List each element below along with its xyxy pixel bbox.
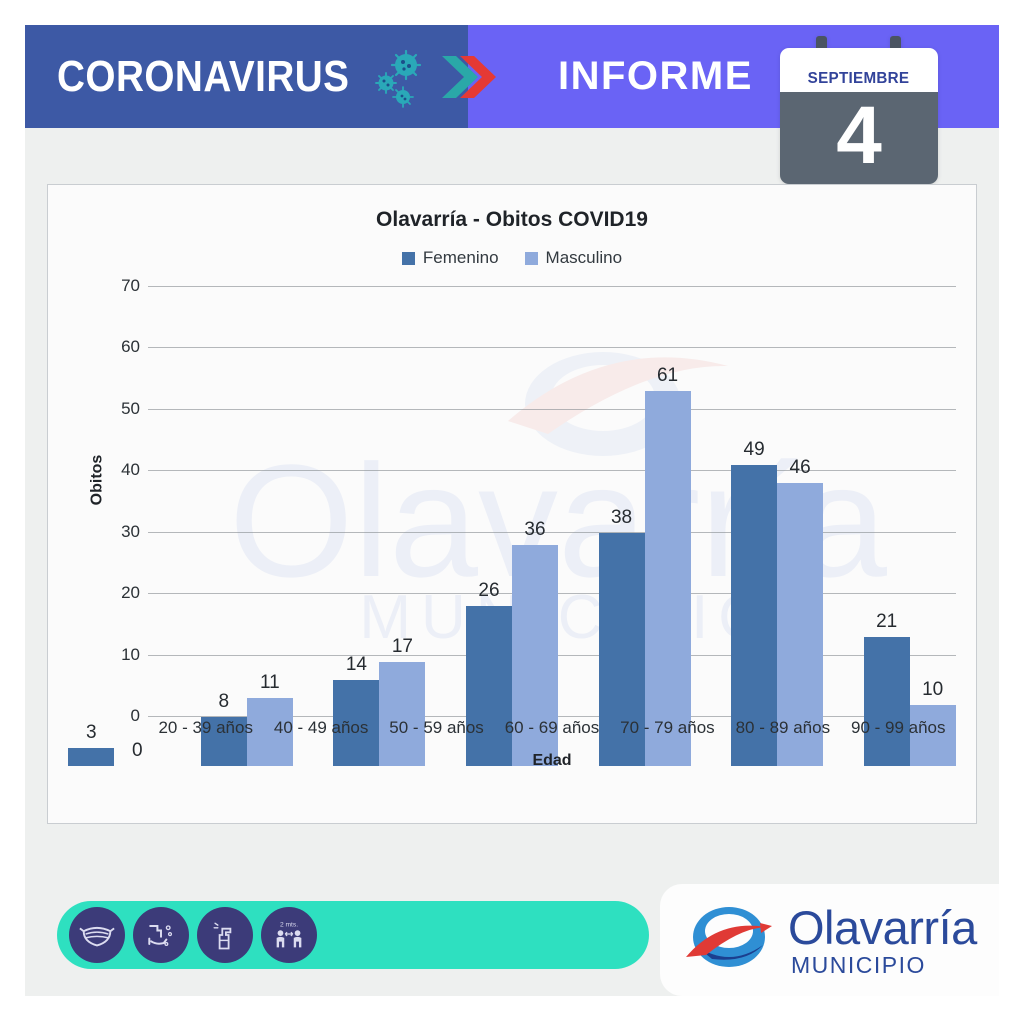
bar-femenino[interactable]: 38 [599, 336, 645, 766]
bar-group: 4946 [731, 336, 823, 766]
bar-value-label: 8 [219, 691, 230, 713]
legend-label-femenino: Femenino [423, 248, 499, 268]
bar-group: 30 [68, 336, 160, 766]
bar-value-label: 17 [392, 636, 413, 658]
bar-rect [864, 637, 910, 766]
gridline-70 [148, 286, 956, 287]
bar-rect [379, 662, 425, 766]
calendar-body: 4 [780, 92, 938, 184]
legend-label-masculino: Masculino [546, 248, 623, 268]
bar-value-label: 21 [876, 611, 897, 633]
chart-panel: Olavarría - Obitos COVID19 Femenino Masc… [47, 184, 977, 824]
bar-rect [466, 606, 512, 766]
report-label: INFORME [558, 54, 753, 99]
bar-group: 3861 [599, 336, 691, 766]
bar-masculino[interactable]: 17 [379, 336, 425, 766]
distance-label: 2 mts. [280, 921, 298, 928]
legend-swatch-femenino [402, 252, 415, 265]
bar-femenino[interactable]: 8 [201, 336, 247, 766]
date-calendar: SEPTIEMBRE 4 [780, 36, 938, 184]
x-tick-label: 40 - 49 años [263, 718, 378, 738]
x-tick-label: 80 - 89 años [725, 718, 840, 738]
bar-femenino[interactable]: 26 [466, 336, 512, 766]
x-axis-title: Edad [148, 752, 956, 770]
bar-masculino[interactable]: 0 [114, 336, 160, 766]
bar-value-label: 46 [790, 457, 811, 479]
social-distance-icon: 2 mts. [261, 907, 317, 963]
bar-femenino[interactable]: 3 [68, 336, 114, 766]
bar-value-label: 3 [86, 722, 97, 744]
bar-value-label: 36 [524, 519, 545, 541]
bar-group: 2110 [864, 336, 956, 766]
plot-area: Obitos 010203040506070 Olavarría MUNICIP… [48, 286, 976, 766]
bar-group: 811 [201, 336, 293, 766]
legend-item-masculino: Masculino [525, 248, 623, 268]
bar-group: 2636 [466, 336, 558, 766]
calendar-header: SEPTIEMBRE [780, 48, 938, 92]
x-tick-label: 50 - 59 años [379, 718, 494, 738]
y-tick-70: 70 [121, 276, 140, 296]
chart-title: Olavarría - Obitos COVID19 [48, 208, 976, 232]
x-tick-label: 70 - 79 años [610, 718, 725, 738]
bar-rect [68, 748, 114, 766]
legend-swatch-masculino [525, 252, 538, 265]
bar-masculino[interactable]: 61 [645, 336, 691, 766]
x-tick-label: 20 - 39 años [148, 718, 263, 738]
page-title: CORONAVIRUS [57, 52, 349, 102]
legend-item-femenino: Femenino [402, 248, 499, 268]
bar-masculino[interactable]: 11 [247, 336, 293, 766]
bar-femenino[interactable]: 49 [731, 336, 777, 766]
handwashing-icon [133, 907, 189, 963]
chevron-right-icon [440, 53, 500, 101]
chart-bars: 3081114172636386149462110 [48, 336, 976, 766]
bar-rect [645, 391, 691, 766]
header-left-panel: CORONAVIRUS [25, 25, 468, 128]
x-tick-label: 60 - 69 años [494, 718, 609, 738]
sanitizer-spray-icon [197, 907, 253, 963]
logo-name: Olavarría [788, 904, 977, 951]
bar-value-label: 0 [132, 740, 143, 762]
olavarria-swoosh-logo [682, 901, 776, 979]
bar-value-label: 10 [922, 679, 943, 701]
logo-subtitle: MUNICIPIO [791, 954, 977, 977]
virus-icon [370, 49, 440, 111]
poster-root: CORONAVIRUS [0, 0, 1024, 1024]
bar-value-label: 11 [260, 672, 280, 694]
bar-masculino[interactable]: 36 [512, 336, 558, 766]
bar-value-label: 14 [346, 654, 367, 676]
prevention-banner: 2 mts. [57, 901, 649, 969]
municipality-logo: Olavarría MUNICIPIO [660, 884, 999, 996]
x-axis-tick-labels: 20 - 39 años40 - 49 años50 - 59 años60 -… [148, 718, 956, 738]
calendar-day: 4 [836, 101, 882, 171]
face-mask-icon [69, 907, 125, 963]
bar-value-label: 61 [657, 365, 678, 387]
bar-femenino[interactable]: 21 [864, 336, 910, 766]
bar-femenino[interactable]: 14 [333, 336, 379, 766]
chart-legend: Femenino Masculino [48, 248, 976, 268]
bar-masculino[interactable]: 10 [910, 336, 956, 766]
bar-value-label: 49 [744, 439, 765, 461]
bar-masculino[interactable]: 46 [777, 336, 823, 766]
bar-group: 1417 [333, 336, 425, 766]
x-tick-label: 90 - 99 años [841, 718, 956, 738]
calendar-month: SEPTIEMBRE [808, 70, 910, 88]
bar-value-label: 26 [478, 580, 499, 602]
bar-value-label: 38 [611, 507, 632, 529]
